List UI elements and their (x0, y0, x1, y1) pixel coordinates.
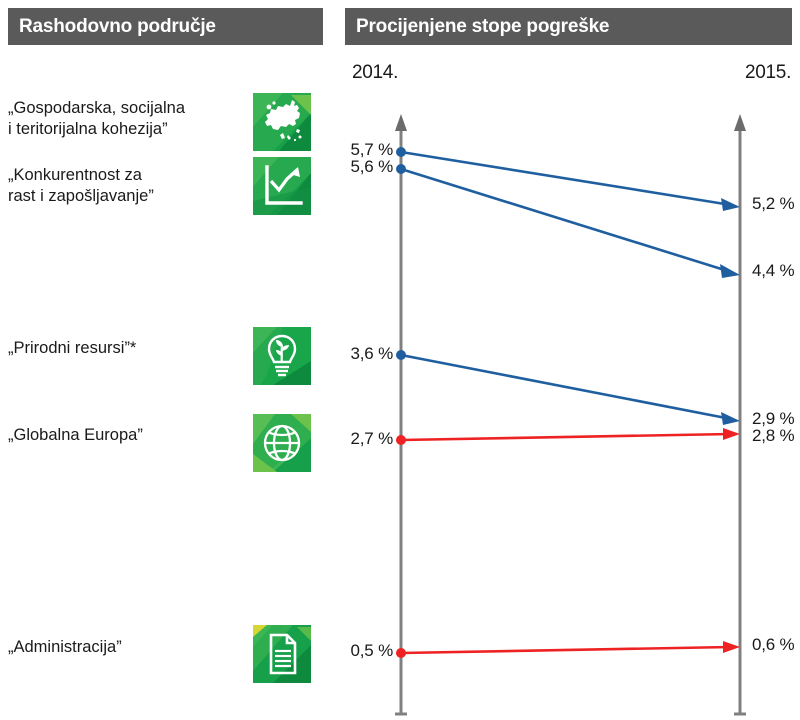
header-left-title: Rashodovno područje (19, 16, 216, 38)
header-expenditure-area: Rashodovno područje (8, 8, 323, 45)
year-label-2015: 2015. (745, 62, 791, 84)
axis-left-2014 (395, 114, 407, 714)
europe-map-icon (253, 93, 311, 151)
series-line-administration (396, 641, 740, 658)
line-chart-growth-icon (253, 157, 311, 215)
value-right-competitiveness: 4,4 % (752, 261, 794, 281)
category-label-natural-resources: „Prirodni resursi”* (8, 338, 136, 359)
axis-right-2015 (734, 114, 746, 714)
value-left-competitiveness: 5,6 % (345, 157, 393, 177)
category-label-global-europe: „Globalna Europa” (8, 425, 143, 446)
value-left-global-europe: 2,7 % (345, 429, 393, 449)
globe-icon (253, 414, 311, 472)
lightbulb-plant-icon (253, 327, 311, 385)
infographic-root: Rashodovno područje Procijenjene stope p… (0, 0, 800, 720)
header-right-title: Procijenjene stope pogreške (356, 16, 609, 38)
value-right-global-europe: 2,8 % (752, 426, 794, 446)
series-line-cohesion (396, 147, 740, 211)
category-label-cohesion: „Gospodarska, socijalna i teritorijalna … (8, 98, 185, 140)
year-label-2014: 2014. (352, 62, 398, 84)
series-line-natural-resources (396, 350, 740, 425)
value-right-administration: 0,6 % (752, 635, 794, 655)
header-estimated-error-rates: Procijenjene stope pogreške (345, 8, 792, 45)
value-left-natural-resources: 3,6 % (345, 344, 393, 364)
category-label-administration: „Administracija” (8, 637, 122, 658)
series-line-global-europe (396, 428, 740, 445)
value-left-administration: 0,5 % (345, 641, 393, 661)
document-icon (253, 625, 311, 683)
series-line-competitiveness (396, 164, 740, 278)
value-right-cohesion: 5,2 % (752, 194, 794, 214)
category-label-competitiveness: „Konkurentnost za rast i zapošljavanje” (8, 165, 154, 207)
